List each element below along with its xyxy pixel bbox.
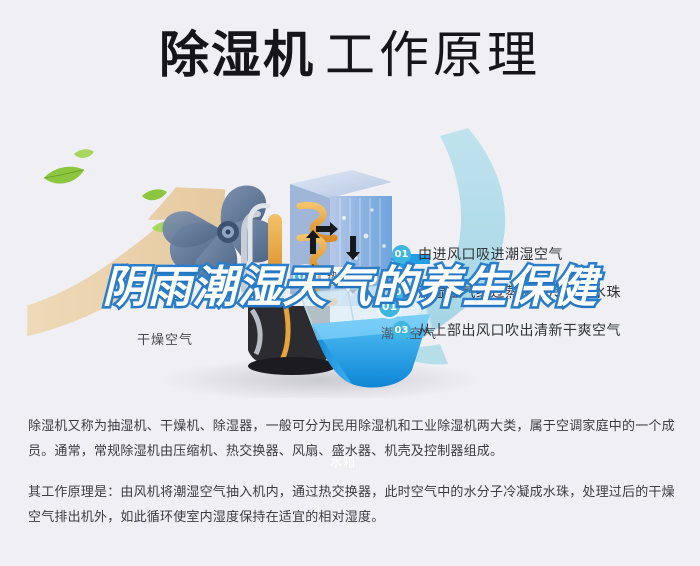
- badge-03: 03: [116, 270, 137, 291]
- step-text: 由进风口吸进潮湿空气: [418, 244, 563, 264]
- label-heat-exchanger: 热交换器: [320, 266, 378, 286]
- title-part-1: 除湿机: [159, 26, 315, 84]
- page-title: 除湿机工作原理: [0, 26, 700, 84]
- paragraph-1: 除湿机又称为抽湿机、干燥机、除湿器，一般可分为民用除湿机和工业除湿机两大类，属于…: [28, 414, 676, 464]
- page-root: 除湿机工作原理: [0, 0, 700, 566]
- badge-02: 02: [295, 266, 316, 287]
- step-list: 01 由进风口吸进潮湿空气 02 潮湿空气经过蒸发器冷凝成水珠 03 从上部出风…: [392, 244, 692, 358]
- step-number: 03: [392, 321, 411, 340]
- body-text: 除湿机又称为抽湿机、干燥机、除湿器，一般可分为民用除湿机和工业除湿机两大类，属于…: [28, 414, 676, 546]
- title-part-2: 工作原理: [325, 26, 541, 84]
- step-text: 从上部出风口吹出清新干爽空气: [418, 320, 621, 340]
- paragraph-2: 其工作原理是：由风机将潮湿空气抽入机内，通过热交换器，此时空气中的水分子冷凝成水…: [28, 480, 676, 530]
- list-item: 03 从上部出风口吹出清新干爽空气: [392, 320, 692, 340]
- list-item: 02 潮湿空气经过蒸发器冷凝成水珠: [392, 282, 692, 302]
- label-dry-air: 干燥空气: [137, 329, 193, 348]
- step-number: 02: [392, 283, 411, 302]
- step-text: 潮湿空气经过蒸发器冷凝成水珠: [418, 282, 621, 302]
- list-item: 01 由进风口吸进潮湿空气: [392, 244, 692, 264]
- step-number: 01: [392, 245, 411, 264]
